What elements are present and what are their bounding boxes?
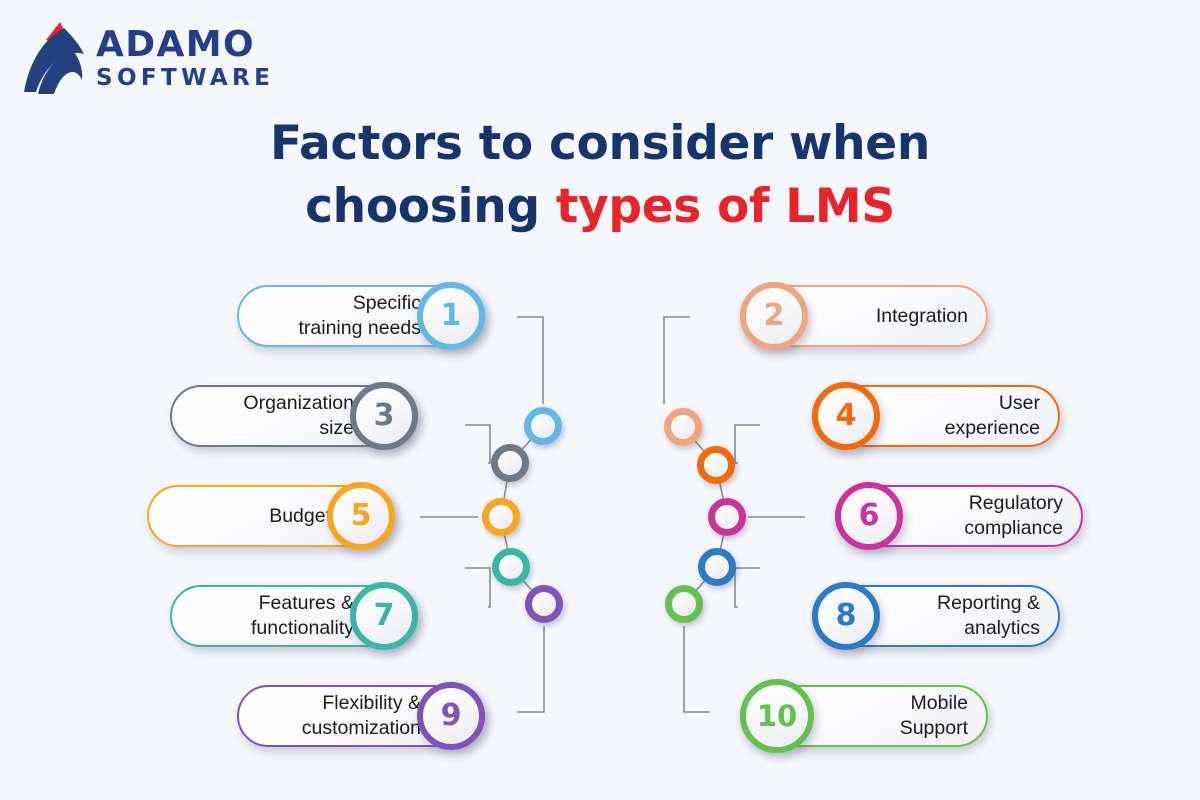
- chain-node-3: [491, 444, 529, 482]
- chain-node-10: [665, 585, 703, 623]
- factor-pill-7[interactable]: Features & functionality7: [170, 585, 418, 647]
- chain-node-5: [482, 498, 520, 536]
- factor-number-badge-1: 1: [417, 282, 485, 350]
- pill-connector: [517, 626, 544, 712]
- pill-connector: [735, 568, 760, 607]
- factor-number-badge-8: 8: [812, 582, 880, 650]
- factors-diagram: Specific training needs1Integration2Orga…: [0, 0, 1200, 800]
- chain-link: [721, 536, 724, 549]
- factor-number-badge-9: 9: [417, 682, 485, 750]
- factor-pill-3[interactable]: Organization size3: [170, 385, 418, 447]
- chain-link: [524, 581, 532, 590]
- factor-number-2: 2: [764, 301, 785, 331]
- chain-link: [505, 536, 508, 549]
- factor-label-2: Integration: [820, 304, 968, 329]
- pill-connector: [684, 626, 710, 712]
- factor-number-5: 5: [351, 501, 372, 531]
- pill-connector: [735, 425, 760, 463]
- factor-label-6: Regulatory compliance: [915, 491, 1063, 541]
- factor-label-9: Flexibility & customization: [263, 691, 421, 741]
- factor-number-9: 9: [441, 701, 462, 731]
- factor-label-8: Reporting & analytics: [892, 591, 1040, 641]
- factor-pill-10[interactable]: Mobile Support10: [740, 685, 988, 747]
- factor-number-badge-2: 2: [740, 282, 808, 350]
- factor-label-3: Organization size: [196, 391, 354, 441]
- factor-label-5: Budget: [173, 504, 331, 529]
- chain-link: [695, 441, 703, 450]
- chain-node-4: [697, 446, 735, 484]
- chain-node-2: [664, 408, 702, 446]
- chain-link: [523, 440, 531, 449]
- chain-node-9: [525, 585, 563, 623]
- factor-pill-6[interactable]: Regulatory compliance6: [835, 485, 1083, 547]
- factor-pill-2[interactable]: Integration2: [740, 285, 988, 347]
- factor-pill-5[interactable]: Budget5: [147, 485, 395, 547]
- factor-label-4: User experience: [892, 391, 1040, 441]
- factor-label-7: Features & functionality: [196, 591, 354, 641]
- chain-link: [697, 581, 705, 590]
- factor-label-1: Specific training needs: [263, 291, 421, 341]
- factor-pill-4[interactable]: User experience4: [812, 385, 1060, 447]
- factor-pill-9[interactable]: Flexibility & customization9: [237, 685, 485, 747]
- factor-number-badge-3: 3: [350, 382, 418, 450]
- chain-link: [504, 482, 507, 499]
- factor-number-8: 8: [836, 601, 857, 631]
- pill-connector: [465, 425, 490, 463]
- chain-link: [720, 484, 723, 499]
- chain-node-7: [492, 548, 530, 586]
- factor-number-7: 7: [374, 601, 395, 631]
- factor-number-badge-6: 6: [835, 482, 903, 550]
- pill-connector: [664, 317, 690, 404]
- chain-node-8: [698, 548, 736, 586]
- pill-connector: [465, 568, 490, 607]
- chain-node-1: [524, 407, 562, 445]
- factor-label-10: Mobile Support: [820, 691, 968, 741]
- factor-number-1: 1: [441, 301, 462, 331]
- factor-number-4: 4: [836, 401, 857, 431]
- factor-number-10: 10: [757, 701, 797, 731]
- factor-pill-8[interactable]: Reporting & analytics8: [812, 585, 1060, 647]
- factor-number-badge-7: 7: [350, 582, 418, 650]
- factor-number-3: 3: [374, 401, 395, 431]
- chain-node-6: [708, 498, 746, 536]
- factor-number-6: 6: [859, 501, 880, 531]
- pill-connector: [517, 317, 543, 404]
- factor-number-badge-10: 10: [740, 679, 814, 753]
- factor-number-badge-4: 4: [812, 382, 880, 450]
- factor-number-badge-5: 5: [327, 482, 395, 550]
- factor-pill-1[interactable]: Specific training needs1: [237, 285, 485, 347]
